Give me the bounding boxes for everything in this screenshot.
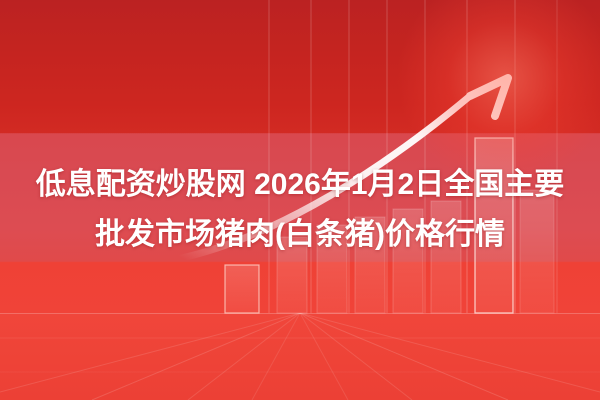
title-container: 低息配资炒股网 2026年1月2日全国主要批发市场猪肉(白条猪)价格行情 [0, 0, 600, 400]
price-banner: 低息配资炒股网 2026年1月2日全国主要批发市场猪肉(白条猪)价格行情 低息配… [0, 0, 600, 400]
page-title: 低息配资炒股网 2026年1月2日全国主要批发市场猪肉(白条猪)价格行情 [30, 160, 570, 260]
hidden-note: 低息配资炒股网 [0, 397, 600, 398]
